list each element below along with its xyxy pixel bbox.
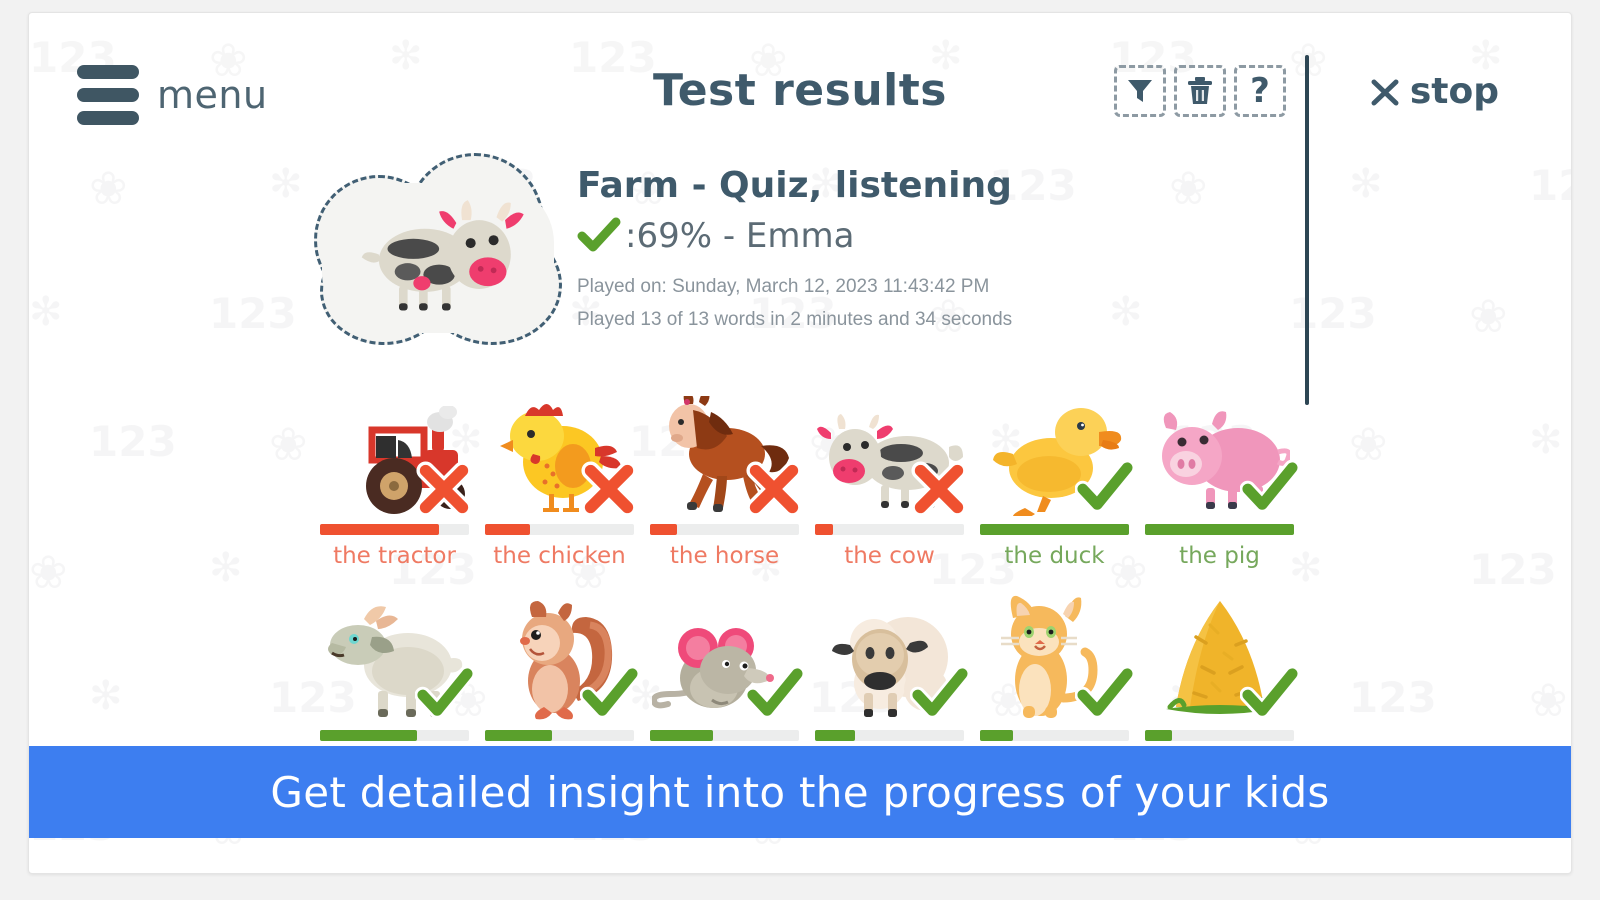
score-text: :69% - Emma (625, 216, 854, 256)
progress-bar (320, 524, 469, 535)
close-icon (1370, 77, 1400, 107)
progress-bar (1145, 730, 1294, 741)
check-icon (580, 666, 638, 724)
cat-icon (972, 587, 1137, 722)
vertical-divider (1305, 55, 1309, 405)
progress-bar-fill (1145, 730, 1172, 741)
word-result-cell[interactable]: the horse (642, 381, 807, 569)
page-title: Test results (29, 65, 1571, 116)
progress-bar-fill (815, 730, 855, 741)
help-button[interactable]: ? (1234, 65, 1286, 117)
progress-bar-fill (650, 524, 677, 535)
word-result-cell[interactable]: the cow (807, 381, 972, 569)
chicken-icon (477, 381, 642, 516)
duck-icon (972, 381, 1137, 516)
delete-button[interactable] (1174, 65, 1226, 117)
progress-bar-fill (980, 524, 1129, 535)
check-icon (1075, 666, 1133, 724)
tractor-icon (312, 381, 477, 516)
progress-bar (650, 730, 799, 741)
check-icon (1075, 460, 1133, 518)
progress-bar (320, 730, 469, 741)
app-window: 123❀✻123❀✻123❀✻❀✻123❀✻123❀✻123✻123❀✻123❀… (28, 12, 1572, 874)
stop-button[interactable]: stop (1370, 71, 1499, 112)
progress-bar-fill (485, 730, 552, 741)
played-count-text: Played 13 of 13 words in 2 minutes and 3… (577, 303, 1277, 336)
cow-icon (356, 191, 528, 321)
mouse-icon (642, 587, 807, 722)
check-icon (1240, 666, 1298, 724)
watermark-glyph: 123 (1349, 673, 1437, 722)
progress-bar-fill (980, 730, 1013, 741)
green-check-icon (577, 216, 621, 256)
watermark-glyph: ✻ (269, 161, 303, 207)
check-icon (745, 666, 803, 724)
cross-icon (910, 460, 968, 518)
progress-bar (1145, 524, 1294, 535)
word-label: the cow (807, 543, 972, 569)
top-bar: menu Test results ? (29, 13, 1571, 143)
cross-icon (580, 460, 638, 518)
progress-bar (815, 730, 964, 741)
cross-icon (745, 460, 803, 518)
progress-bar (650, 524, 799, 535)
progress-bar (980, 524, 1129, 535)
progress-bar-fill (320, 730, 417, 741)
goat-icon (312, 587, 477, 722)
progress-bar-fill (320, 524, 439, 535)
cow-icon (807, 381, 972, 516)
progress-bar-fill (485, 524, 530, 535)
progress-bar (485, 524, 634, 535)
pig-icon (1137, 381, 1302, 516)
check-icon (415, 666, 473, 724)
watermark-glyph: ❀ (1529, 673, 1568, 727)
promo-banner[interactable]: Get detailed insight into the progress o… (29, 746, 1571, 838)
watermark-glyph: ❀ (1469, 289, 1508, 343)
trash-icon (1186, 76, 1214, 106)
check-icon (1075, 666, 1133, 724)
horse-icon (642, 381, 807, 516)
progress-bar-fill (650, 730, 713, 741)
word-label: the pig (1137, 543, 1302, 569)
check-icon (580, 666, 638, 724)
progress-bar (485, 730, 634, 741)
watermark-glyph: 123 (89, 417, 177, 466)
check-icon (1075, 460, 1133, 518)
filter-button[interactable] (1114, 65, 1166, 117)
promo-banner-text: Get detailed insight into the progress o… (270, 768, 1329, 817)
haystack-icon (1137, 587, 1302, 722)
check-icon (415, 666, 473, 724)
check-icon (1240, 460, 1298, 518)
watermark-glyph: ✻ (209, 545, 243, 591)
score-line: :69% - Emma (577, 216, 1277, 256)
watermark-glyph: ✻ (29, 289, 63, 335)
watermark-glyph: 123 (209, 289, 297, 338)
sheep-icon (807, 587, 972, 722)
cross-icon (415, 460, 473, 518)
word-result-cell[interactable]: the tractor (312, 381, 477, 569)
check-icon (910, 666, 968, 724)
word-result-cell[interactable]: the pig (1137, 381, 1302, 569)
check-icon (745, 666, 803, 724)
result-summary: Farm - Quiz, listening :69% - Emma Playe… (577, 165, 1277, 337)
check-icon (1240, 460, 1298, 518)
tool-button-group: ? (1114, 65, 1286, 117)
quiz-subtitle: Farm - Quiz, listening (577, 165, 1277, 206)
progress-bar (815, 524, 964, 535)
funnel-icon (1125, 76, 1155, 106)
check-icon (910, 666, 968, 724)
watermark-glyph: 123 (1289, 289, 1377, 338)
watermark-glyph: ❀ (1349, 417, 1388, 471)
check-icon (1240, 666, 1298, 724)
watermark-glyph: ❀ (269, 417, 308, 471)
word-label: the duck (972, 543, 1137, 569)
watermark-glyph: ❀ (29, 545, 68, 599)
watermark-glyph: 123 (1529, 161, 1572, 210)
cross-icon (745, 460, 803, 518)
watermark-glyph: ✻ (89, 673, 123, 719)
word-results-grid: the tractor the chicken the (312, 381, 1302, 775)
word-label: the chicken (477, 543, 642, 569)
progress-bar-fill (815, 524, 833, 535)
progress-bar-fill (1145, 524, 1294, 535)
watermark-glyph: 123 (1469, 545, 1557, 594)
avatar (314, 153, 564, 348)
cross-icon (910, 460, 968, 518)
question-mark-icon: ? (1250, 74, 1270, 108)
watermark-glyph: ✻ (1349, 161, 1383, 207)
watermark-glyph: ❀ (89, 161, 128, 215)
cross-icon (415, 460, 473, 518)
squirrel-icon (477, 587, 642, 722)
watermark-glyph: ✻ (1529, 417, 1563, 463)
word-label: the horse (642, 543, 807, 569)
played-on-text: Played on: Sunday, March 12, 2023 11:43:… (577, 270, 1277, 303)
cross-icon (580, 460, 638, 518)
word-result-cell[interactable]: the chicken (477, 381, 642, 569)
word-label: the tractor (312, 543, 477, 569)
stop-label: stop (1410, 71, 1499, 112)
word-result-cell[interactable]: the duck (972, 381, 1137, 569)
progress-bar (980, 730, 1129, 741)
